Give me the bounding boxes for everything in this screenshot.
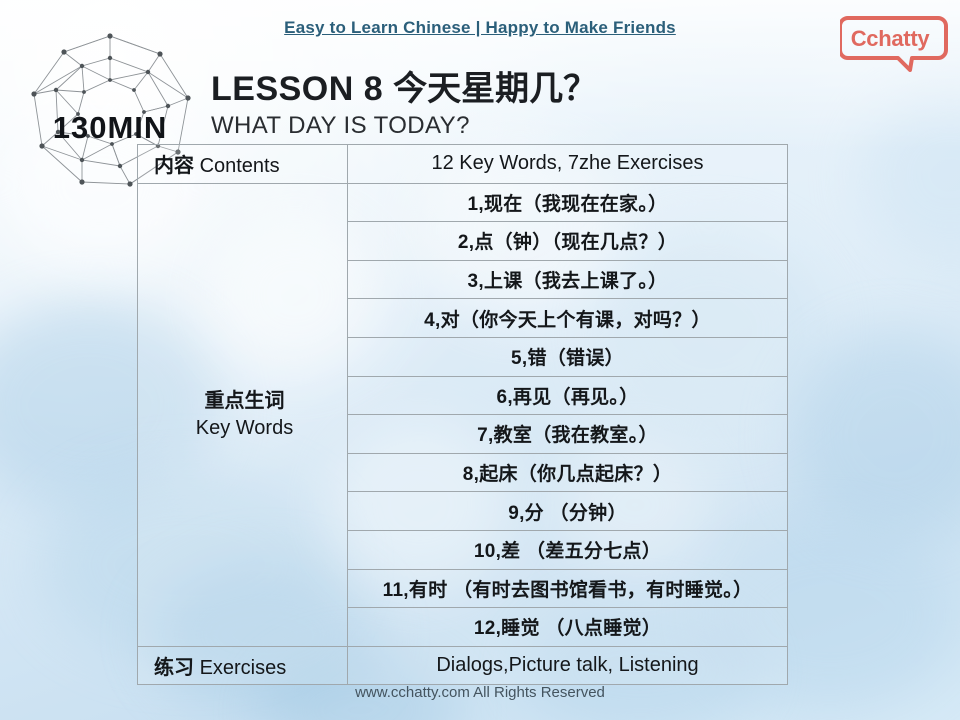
contents-value-cell: 12 Key Words, 7zhe Exercises (348, 145, 788, 184)
table-row-header: 内容 Contents 12 Key Words, 7zhe Exercises (138, 145, 788, 184)
keyword-item: 11,有时 （有时去图书馆看书，有时睡觉。） (348, 569, 788, 608)
keyword-item: 6,再见（再见。） (348, 376, 788, 415)
slide-canvas: Easy to Learn Chinese | Happy to Make Fr… (0, 0, 960, 720)
exercises-label-cell: 练习 Exercises (138, 646, 348, 685)
lesson-title-chinese: 今天星期几？ (393, 70, 597, 108)
keyword-item: 12,睡觉 （八点睡觉） (348, 608, 788, 647)
duration-badge-label: 130MIN (20, 110, 200, 146)
keyword-item: 8,起床（你几点起床？） (348, 453, 788, 492)
keyword-item: 3,上课（我去上课了。） (348, 260, 788, 299)
cchatty-logo: Cchatty (840, 14, 948, 72)
keywords-label-cell: 重点生词 Key Words (138, 183, 348, 646)
exercises-label-en: Exercises (200, 657, 287, 679)
keywords-label-en: Key Words (142, 415, 347, 442)
table-row: 重点生词 Key Words 1,现在（我现在在家。） (138, 183, 788, 222)
exercises-label-cn: 练习 (154, 657, 194, 679)
keyword-item: 5,错（错误） (348, 337, 788, 376)
keyword-item: 10,差 （差五分七点） (348, 530, 788, 569)
keyword-item: 2,点（钟）（现在几点？） (348, 222, 788, 261)
contents-label-cn: 内容 (154, 155, 194, 177)
keyword-item: 7,教室（我在教室。） (348, 415, 788, 454)
page-subtitle: WHAT DAY IS TODAY? (211, 112, 470, 140)
keyword-item: 4,对（你今天上个有课，对吗？） (348, 299, 788, 338)
keywords-label-cn: 重点生词 (142, 388, 347, 415)
keyword-item: 1,现在（我现在在家。） (348, 183, 788, 222)
lesson-content-table: 内容 Contents 12 Key Words, 7zhe Exercises… (137, 144, 788, 685)
exercises-value-cell: Dialogs,Picture talk, Listening (348, 646, 788, 685)
page-title: LESSON 8 今天星期几？ (211, 61, 597, 110)
footer-copyright: www.cchatty.com All Rights Reserved (0, 684, 960, 701)
contents-label-en: Contents (200, 155, 280, 177)
cchatty-logo-text: Cchatty (840, 26, 940, 52)
keyword-item: 9,分 （分钟） (348, 492, 788, 531)
contents-label-cell: 内容 Contents (138, 145, 348, 184)
lesson-number: LESSON 8 (211, 70, 383, 108)
table-row-exercises: 练习 Exercises Dialogs,Picture talk, Liste… (138, 646, 788, 685)
